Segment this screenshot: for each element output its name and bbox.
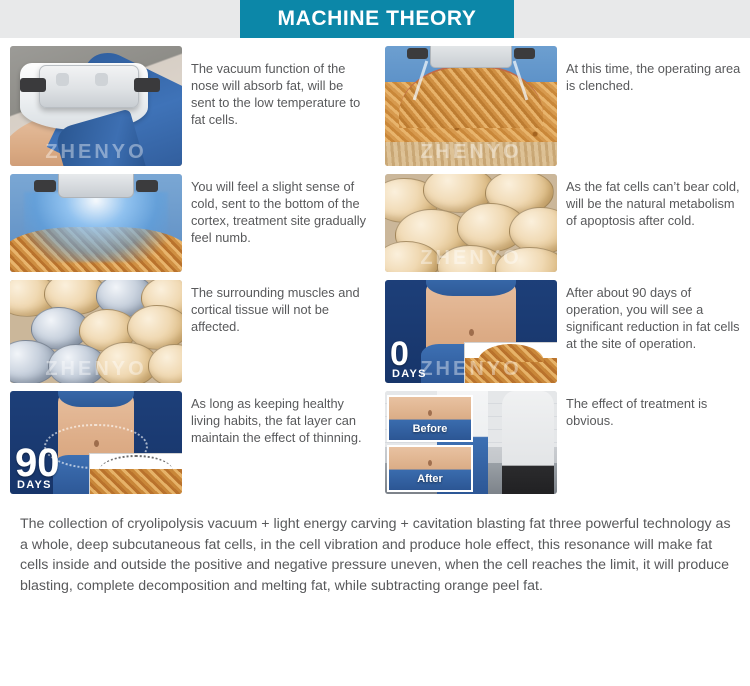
steps-row-3: ZHENYO The surrounding muscles and corti… <box>0 280 750 383</box>
header-strip: MACHINE THEORY <box>0 0 750 38</box>
cooling-frost-on-fat-illustration <box>10 174 182 272</box>
step-caption-2: At this time, the operating area is clen… <box>557 46 742 94</box>
step-card-7: 90 DAYS As long as keeping healthy livin… <box>0 391 375 494</box>
days-label-overlay: DAYS <box>17 479 52 491</box>
step-caption-1: The vacuum function of the nose will abs… <box>182 46 367 128</box>
step-card-5: ZHENYO The surrounding muscles and corti… <box>0 280 375 383</box>
fat-layer-inset <box>464 342 557 383</box>
fat-layer-inset <box>89 453 182 494</box>
fat-layer-cross-section-illustration: ZHENYO <box>385 46 557 166</box>
step-caption-6: After about 90 days of operation, you wi… <box>557 280 742 352</box>
body-day-zero-illustration: 0 DAYS ZHENYO <box>385 280 557 383</box>
days-label-overlay: DAYS <box>392 368 427 380</box>
before-thumbnail: Before <box>387 395 473 442</box>
step-caption-7: As long as keeping healthy living habits… <box>182 391 367 446</box>
footer-description: The collection of cryolipolysis vacuum +… <box>0 502 750 596</box>
steps-row-4: 90 DAYS As long as keeping healthy livin… <box>0 391 750 494</box>
step-caption-5: The surrounding muscles and cortical tis… <box>182 280 367 335</box>
after-thumbnail: After <box>387 445 473 492</box>
step-card-6: 0 DAYS ZHENYO After about 90 days of ope… <box>375 280 750 383</box>
body-day-ninety-illustration: 90 DAYS <box>10 391 182 494</box>
applicator-on-abdomen-photo: ZHENYO <box>10 46 182 166</box>
after-label: After <box>389 473 471 485</box>
steps-grid: ZHENYO The vacuum function of the nose w… <box>0 38 750 494</box>
step-caption-4: As the fat cells can’t bear cold, will b… <box>557 174 742 229</box>
steps-row-2: You will feel a slight sense of cold, se… <box>0 174 750 272</box>
step-card-8: Before After The effect of treatment is … <box>375 391 750 494</box>
frozen-fat-cells-microscopic-illustration: ZHENYO <box>10 280 182 383</box>
days-count-overlay: 90 <box>15 446 60 480</box>
days-count-overlay: 0 <box>390 340 409 369</box>
step-card-2: ZHENYO At this time, the operating area … <box>375 46 750 166</box>
page-title: MACHINE THEORY <box>278 7 477 31</box>
step-card-3: You will feel a slight sense of cold, se… <box>0 174 375 272</box>
step-caption-3: You will feel a slight sense of cold, se… <box>182 174 367 246</box>
before-after-clinic-photo: Before After <box>385 391 557 494</box>
step-caption-8: The effect of treatment is obvious. <box>557 391 742 429</box>
step-card-4: ZHENYO As the fat cells can’t bear cold,… <box>375 174 750 272</box>
header-banner: MACHINE THEORY <box>240 0 514 38</box>
before-label: Before <box>389 423 471 435</box>
footer-paragraph: The collection of cryolipolysis vacuum +… <box>20 514 736 596</box>
steps-row-1: ZHENYO The vacuum function of the nose w… <box>0 46 750 166</box>
fat-cells-microscopic-illustration: ZHENYO <box>385 174 557 272</box>
step-card-1: ZHENYO The vacuum function of the nose w… <box>0 46 375 166</box>
